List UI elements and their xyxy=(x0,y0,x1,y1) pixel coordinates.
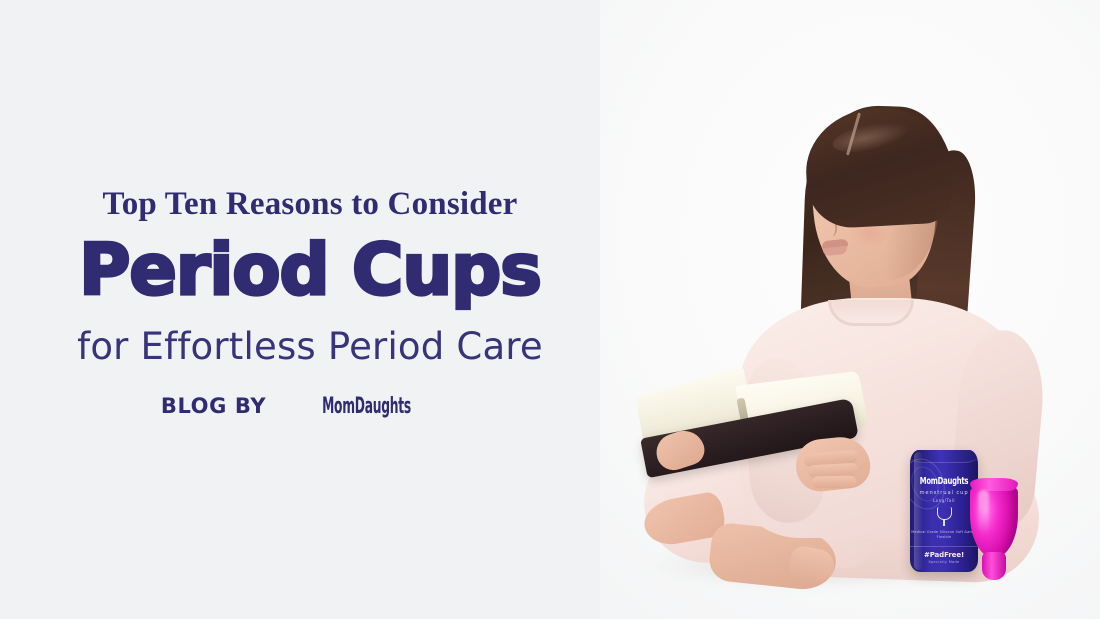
headline-subtitle: for Effortless Period Care xyxy=(0,327,620,368)
cup-rim xyxy=(970,478,1018,491)
headline-block: Top Ten Reasons to Consider Period Cups … xyxy=(0,186,620,419)
cup-icon xyxy=(937,507,952,527)
blog-banner: Top Ten Reasons to Consider Period Cups … xyxy=(0,0,1100,619)
menstrual-cup xyxy=(958,478,1020,580)
cup-highlight xyxy=(978,490,989,534)
cup-stem xyxy=(982,552,1006,580)
product-group: MomDaughts menstrual cup Long/Tall Medic… xyxy=(910,450,1030,580)
byline-brand: MomDaughts xyxy=(309,394,424,419)
byline-prefix: BLOG BY xyxy=(161,394,266,418)
headline-main: Period Cups xyxy=(0,235,620,305)
sweater-collar xyxy=(828,300,914,326)
byline: BLOG BY MomDaughts xyxy=(0,394,620,419)
finger xyxy=(812,476,856,489)
headline-eyebrow: Top Ten Reasons to Consider xyxy=(0,186,620,223)
